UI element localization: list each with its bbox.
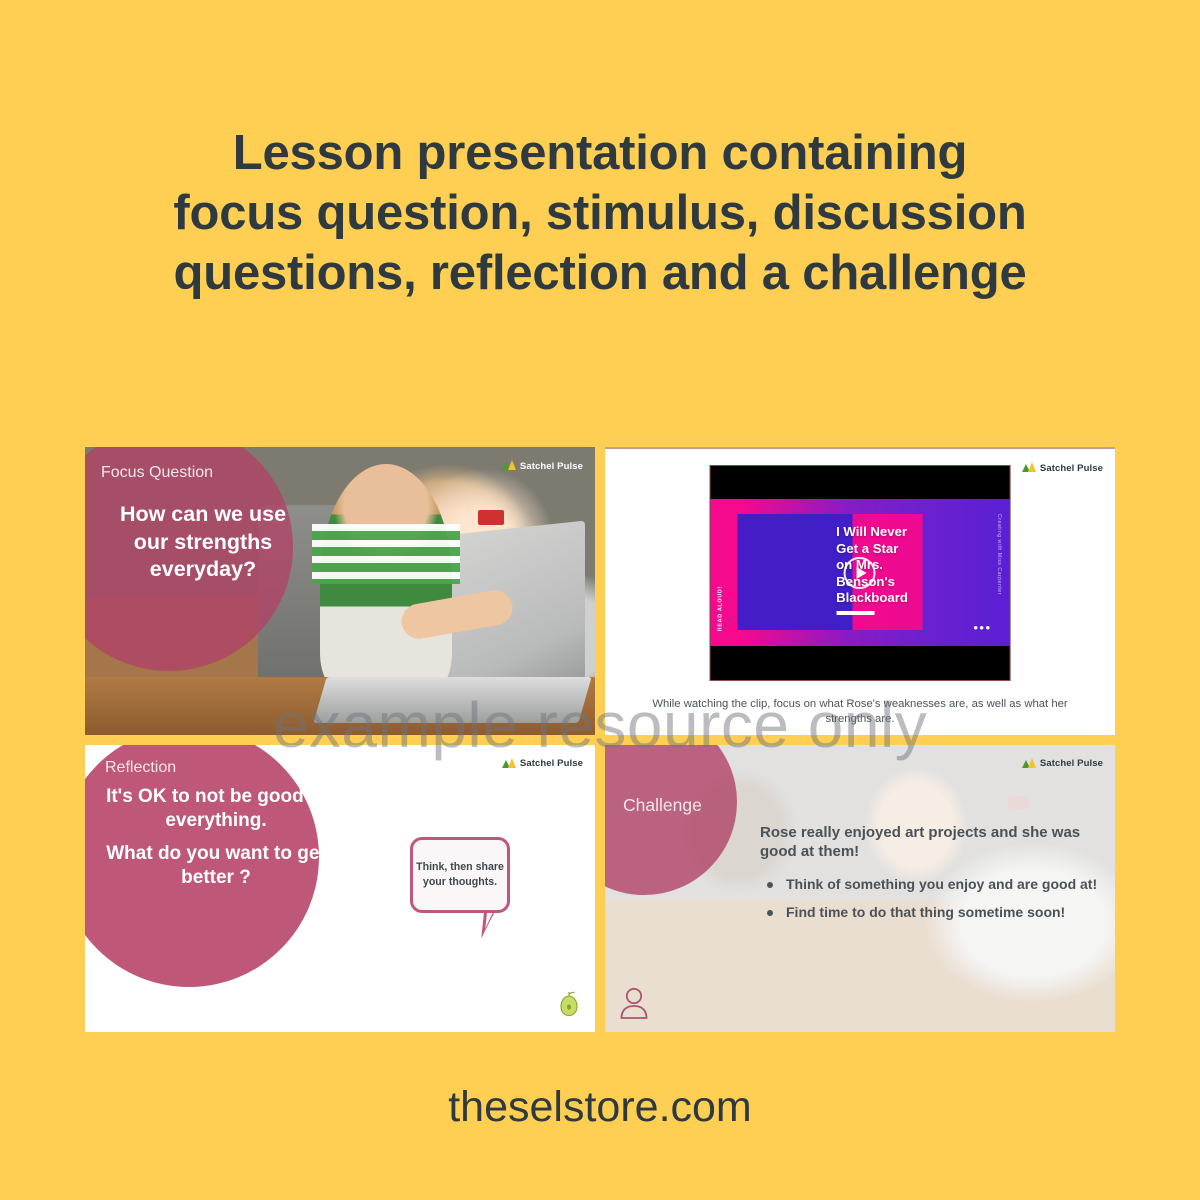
video-title-line-1: I Will Never <box>836 524 908 541</box>
footer-url: theselstore.com <box>0 1083 1200 1132</box>
slide-label-focus-question: Focus Question <box>101 464 213 482</box>
challenge-body: Rose really enjoyed art projects and she… <box>760 823 1101 931</box>
focus-question-text: How can we use our strengths everyday? <box>103 501 303 584</box>
brand-name: Satchel Pulse <box>1040 463 1103 474</box>
page-title-line-3: questions, reflection and a challenge <box>60 244 1140 304</box>
person-icon <box>619 987 649 1024</box>
video-title-line-2: Get a Star <box>836 541 908 558</box>
video-channel-label: Creating with Miss Carpenter <box>996 514 1002 595</box>
list-item: Find time to do that thing sometime soon… <box>760 903 1101 922</box>
video-title-line-5: Blackboard <box>836 590 908 607</box>
video-thumbnail[interactable]: I Will Never Get a Star on Mrs. Benson's… <box>710 465 1011 681</box>
play-icon[interactable] <box>844 557 876 589</box>
slide-stimulus[interactable]: Satchel Pulse I Will Never Get a Star on… <box>605 447 1115 735</box>
reflection-text: It's OK to not be good at everything. Wh… <box>93 785 339 891</box>
student-shape <box>320 464 453 694</box>
slide-label-reflection: Reflection <box>105 759 176 777</box>
ellipsis-icon[interactable]: ••• <box>973 620 991 635</box>
speech-bubble: Think, then share your thoughts. <box>410 837 510 913</box>
mountains-icon <box>502 457 516 475</box>
brand-logo: Satchel Pulse <box>502 457 583 475</box>
spacer <box>93 833 339 842</box>
mountains-icon <box>1022 755 1036 773</box>
slide-grid: Focus Question How can we use our streng… <box>85 447 1115 1032</box>
video-title-rule <box>836 611 874 615</box>
brand-name: Satchel Pulse <box>1040 758 1103 769</box>
slide-focus-question[interactable]: Focus Question How can we use our streng… <box>85 447 595 735</box>
stimulus-caption: While watching the clip, focus on what R… <box>641 697 1080 727</box>
brand-name: Satchel Pulse <box>520 461 583 472</box>
list-item: Think of something you enjoy and are goo… <box>760 875 1101 894</box>
slide-challenge[interactable]: Satchel Pulse Challenge Rose really enjo… <box>605 745 1115 1033</box>
page-title-line-2: focus question, stimulus, discussion <box>60 184 1140 244</box>
laptop-shape <box>313 677 591 723</box>
page-title-line-1: Lesson presentation containing <box>60 124 1140 184</box>
brand-logo: Satchel Pulse <box>1022 459 1103 477</box>
slide-reflection[interactable]: Satchel Pulse Reflection It's OK to not … <box>85 745 595 1033</box>
speech-bubble-text: Think, then share your thoughts. <box>413 860 507 889</box>
mountains-icon <box>502 755 516 773</box>
video-artwork: I Will Never Get a Star on Mrs. Benson's… <box>711 499 1010 646</box>
reflection-statement: It's OK to not be good at everything. <box>106 786 326 831</box>
challenge-bullet-list: Think of something you enjoy and are goo… <box>760 875 1101 921</box>
brand-logo: Satchel Pulse <box>1022 755 1103 773</box>
slide-label-challenge: Challenge <box>623 795 702 816</box>
page-title: Lesson presentation containing focus que… <box>60 124 1140 303</box>
challenge-lead: Rose really enjoyed art projects and she… <box>760 823 1101 863</box>
brand-name: Satchel Pulse <box>520 758 583 769</box>
reflection-question: What do you want to get better ? <box>106 843 326 888</box>
mountains-icon <box>1022 459 1036 477</box>
brand-logo: Satchel Pulse <box>502 755 583 773</box>
video-read-aloud-label: READ ALOUD! <box>718 586 724 631</box>
exit-sign-shape <box>478 510 504 525</box>
pear-icon <box>559 991 579 1022</box>
